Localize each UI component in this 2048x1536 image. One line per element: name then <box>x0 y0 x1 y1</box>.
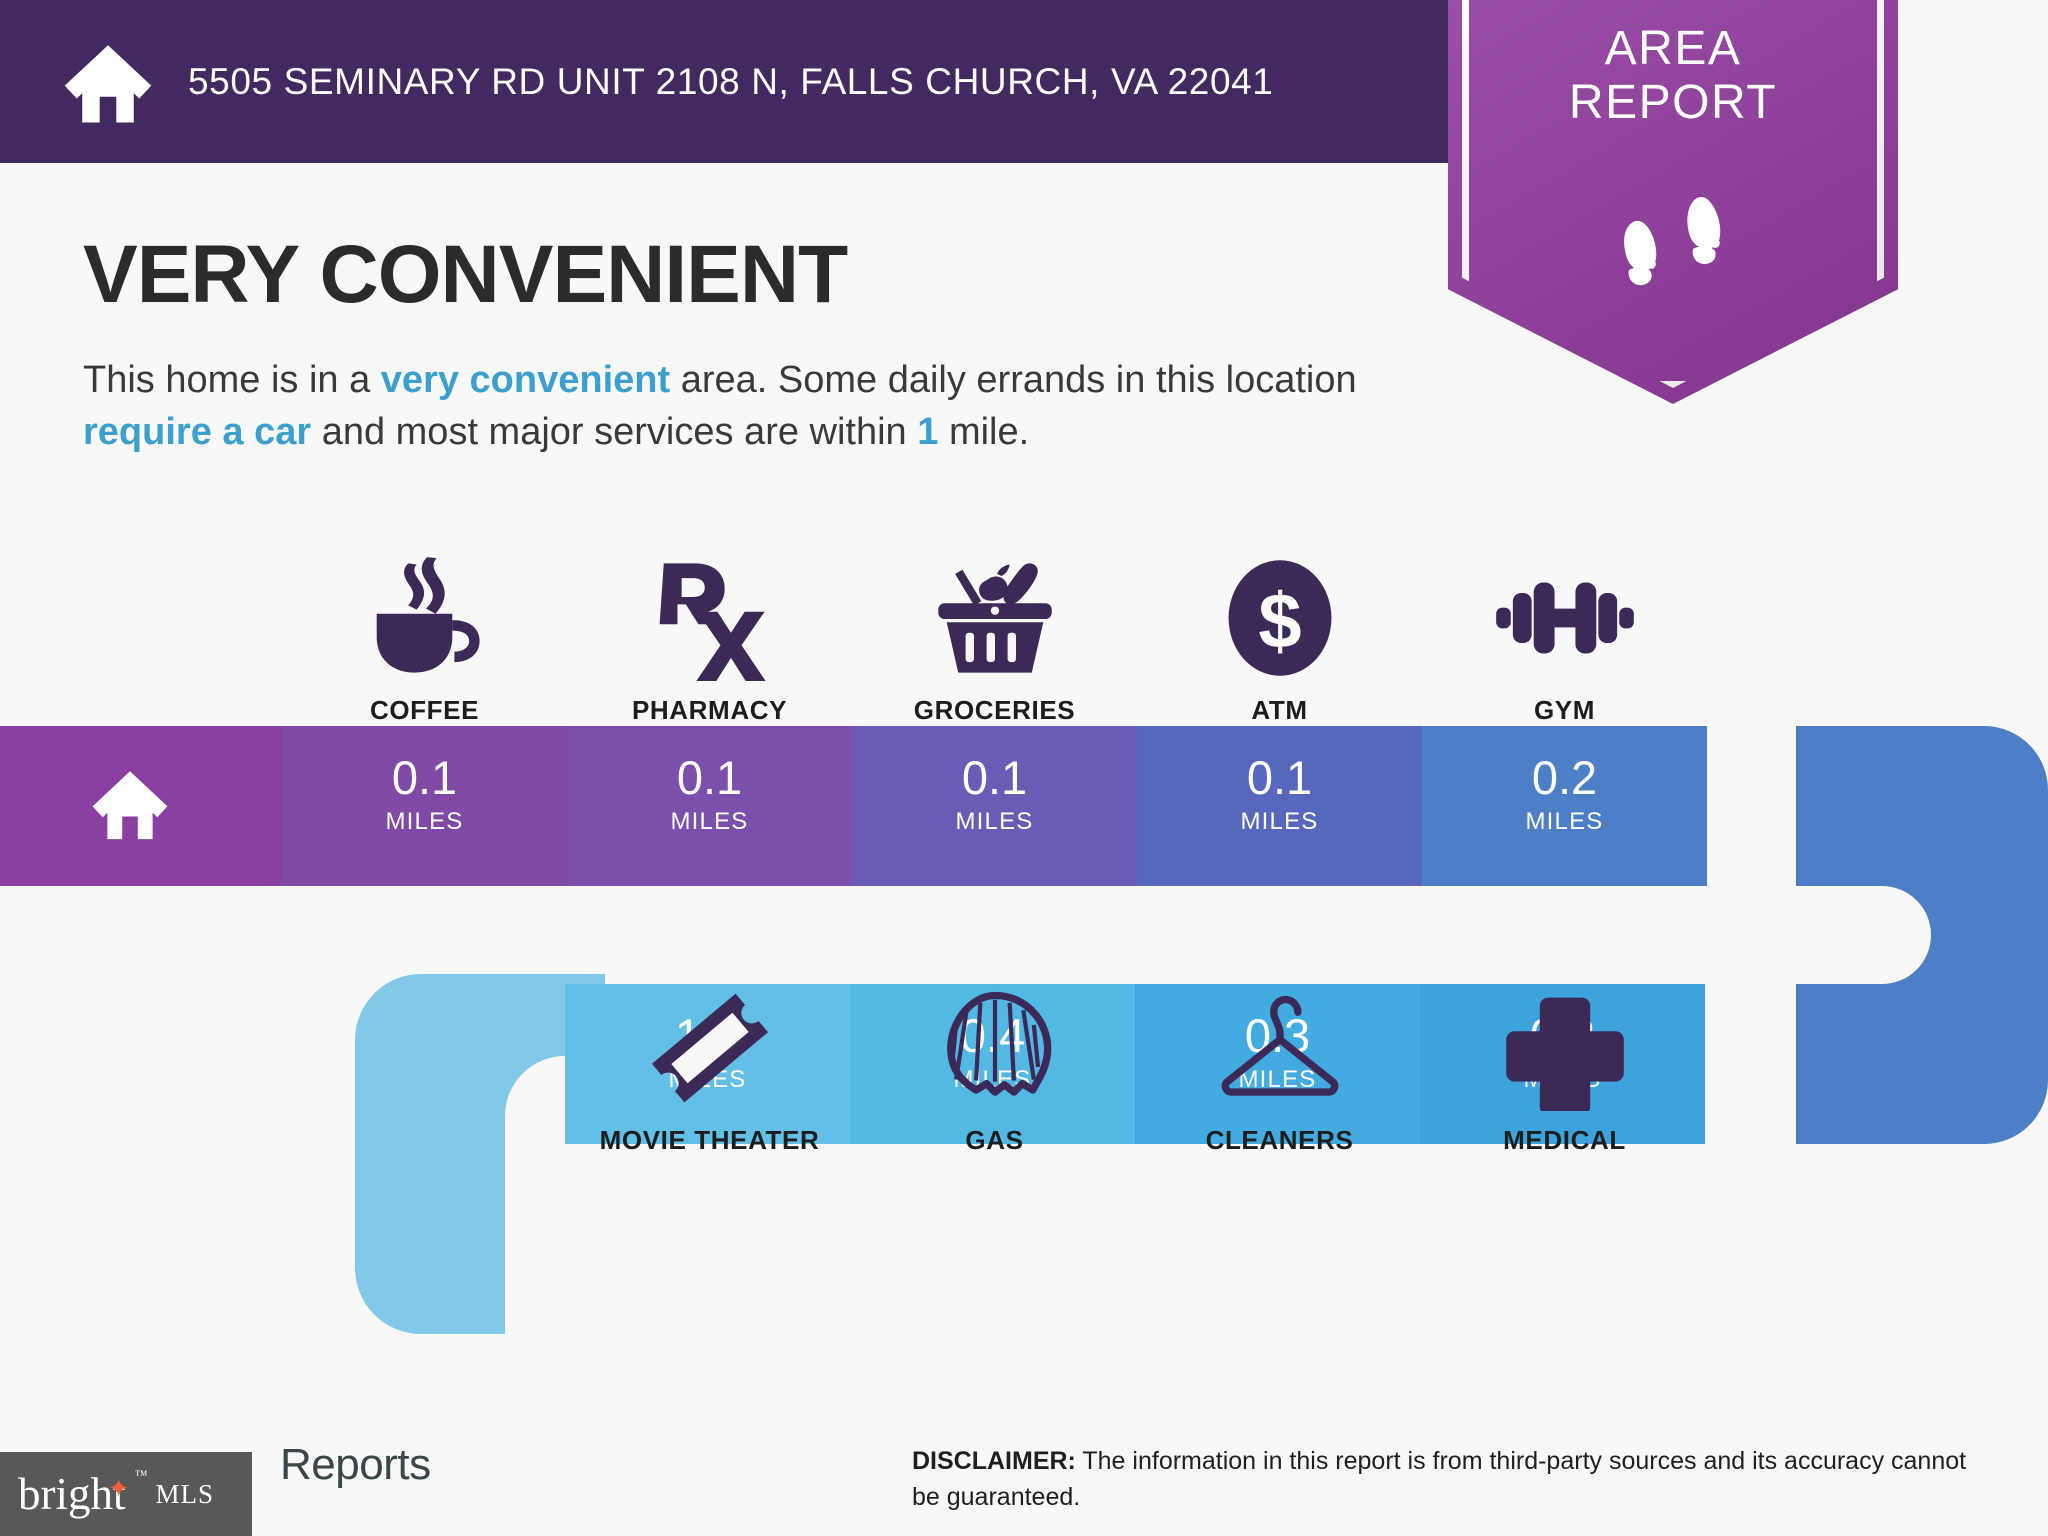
disclaimer-label: DISCLAIMER: <box>912 1447 1076 1475</box>
shell-icon <box>932 985 1058 1111</box>
groceries-icon <box>932 555 1058 681</box>
trademark-icon: ™ <box>135 1468 148 1481</box>
amenity-medical: MEDICAL <box>1422 960 1707 1156</box>
summary-part-4: mile. <box>938 411 1029 453</box>
amenity-label: GAS <box>965 1125 1023 1156</box>
page-title: VERY CONVENIENT <box>83 228 847 322</box>
distance-cell: 0.1MILES <box>567 726 852 886</box>
amenity-icon-row-primary: COFFEEPHARMACYGROCERIES$ATMGYM <box>282 530 1707 726</box>
bright-mls-logo: bright ✦ ™ MLS <box>0 1452 252 1536</box>
distance-unit: MILES <box>282 808 567 836</box>
amenity-atm: $ATM <box>1137 530 1422 726</box>
summary-part-3: and most major services are within <box>311 411 917 453</box>
badge-title: AREA REPORT <box>1448 22 1898 130</box>
amenity-label: MOVIE THEATER <box>600 1125 820 1156</box>
distance-cell: 0.2MILES <box>1422 726 1707 886</box>
medical-icon <box>1502 985 1628 1111</box>
mls-suffix: MLS <box>156 1479 215 1510</box>
header-bar: 5505 SEMINARY RD UNIT 2108 N, FALLS CHUR… <box>0 0 1448 163</box>
amenity-gym: GYM <box>1422 530 1707 726</box>
summary-part-1: This home is in a <box>83 359 381 401</box>
mls-brand-name: bright ✦ ™ <box>18 1472 126 1517</box>
distance-value: 0.1 <box>282 754 567 801</box>
amenity-label: COFFEE <box>370 695 479 726</box>
amenity-label: MEDICAL <box>1503 1125 1626 1156</box>
distance-cell: 0.1MILES <box>1137 726 1422 886</box>
hanger-icon <box>1217 985 1343 1111</box>
amenity-label: GYM <box>1534 695 1595 726</box>
distance-unit: MILES <box>567 808 852 836</box>
ticket-icon <box>647 985 773 1111</box>
summary-accent-2: require a car <box>83 411 311 453</box>
amenity-pharmacy: PHARMACY <box>567 530 852 726</box>
distance-cell: 0.1MILES <box>852 726 1137 886</box>
pharmacy-icon <box>647 555 773 681</box>
amenity-cleaners: CLEANERS <box>1137 960 1422 1156</box>
distance-value: 0.1 <box>852 754 1137 801</box>
property-address: 5505 SEMINARY RD UNIT 2108 N, FALLS CHUR… <box>188 59 1273 104</box>
gym-icon <box>1492 555 1638 681</box>
atm-icon: $ <box>1217 555 1343 681</box>
amenity-label: PHARMACY <box>632 695 787 726</box>
amenity-label: GROCERIES <box>914 695 1075 726</box>
distance-value: 0.1 <box>1137 754 1422 801</box>
amenity-label: CLEANERS <box>1206 1125 1354 1156</box>
footprints-icon <box>1613 182 1733 292</box>
amenity-icon-row-secondary: MOVIE THEATERGASCLEANERSMEDICAL <box>567 960 1707 1156</box>
footer-brand-text: Reports <box>280 1440 431 1490</box>
distance-unit: MILES <box>1422 808 1707 836</box>
home-icon <box>62 36 154 128</box>
distance-value: 0.1 <box>567 754 852 801</box>
badge-line-2: REPORT <box>1448 76 1898 130</box>
distance-row-primary: 0.1MILES0.1MILES0.1MILES0.1MILES0.2MILES <box>0 726 1707 886</box>
summary-text: This home is in a very convenient area. … <box>83 355 1453 458</box>
svg-text:$: $ <box>1258 578 1301 664</box>
subject-property-cell <box>0 726 282 886</box>
amenity-groceries: GROCERIES <box>852 530 1137 726</box>
amenity-movie-theater: MOVIE THEATER <box>567 960 852 1156</box>
snake-turn-right-notch <box>1796 886 1931 984</box>
badge-line-1: AREA <box>1448 22 1898 76</box>
distance-unit: MILES <box>1137 808 1422 836</box>
home-icon <box>90 765 170 848</box>
star-icon: ✦ <box>108 1476 130 1502</box>
distance-cell: 0.1MILES <box>282 726 567 886</box>
distance-value: 0.2 <box>1422 754 1707 801</box>
amenity-coffee: COFFEE <box>282 530 567 726</box>
amenity-label: ATM <box>1251 695 1307 726</box>
summary-part-2: area. Some daily errands in this locatio… <box>670 359 1356 401</box>
amenity-gas: GAS <box>852 960 1137 1156</box>
summary-accent-3: 1 <box>917 411 938 453</box>
disclaimer: DISCLAIMER: The information in this repo… <box>912 1444 1982 1515</box>
area-report-badge: AREA REPORT <box>1448 0 1898 404</box>
area-report-page: 5505 SEMINARY RD UNIT 2108 N, FALLS CHUR… <box>0 0 2048 1536</box>
summary-accent-1: very convenient <box>381 359 670 401</box>
coffee-icon <box>362 555 488 681</box>
distance-unit: MILES <box>852 808 1137 836</box>
